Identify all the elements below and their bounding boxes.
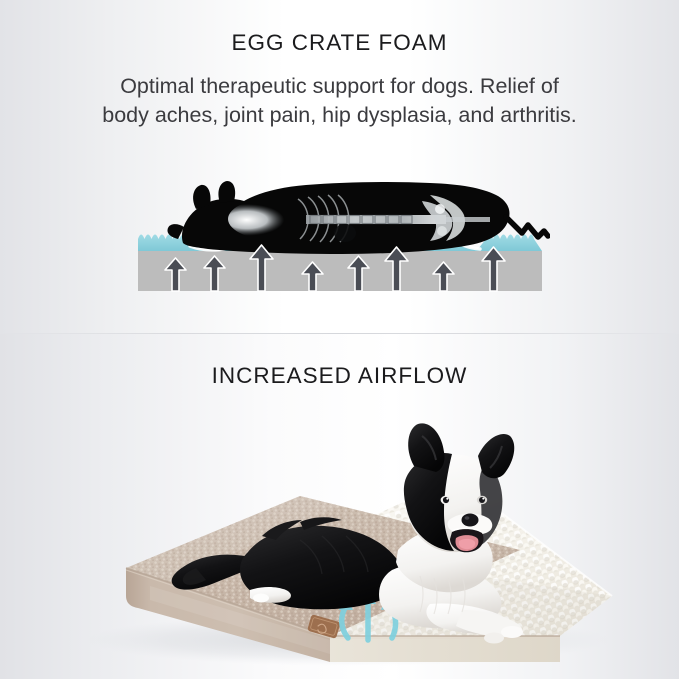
dog-tail [506, 217, 548, 237]
subtitle-line-1: Optimal therapeutic support for dogs. Re… [28, 72, 651, 101]
page-title: EGG CRATE FOAM [0, 30, 679, 56]
dog-bed-photo [0, 400, 679, 679]
infographic-page: EGG CRATE FOAM Optimal therapeutic suppo… [0, 0, 679, 679]
section-title-airflow: INCREASED AIRFLOW [0, 363, 679, 389]
foam-cross-section-illustration [130, 165, 550, 305]
page-subtitle: Optimal therapeutic support for dogs. Re… [28, 72, 651, 130]
subtitle-line-2: body aches, joint pain, hip dysplasia, a… [28, 101, 651, 130]
dog-silhouette [167, 181, 509, 254]
